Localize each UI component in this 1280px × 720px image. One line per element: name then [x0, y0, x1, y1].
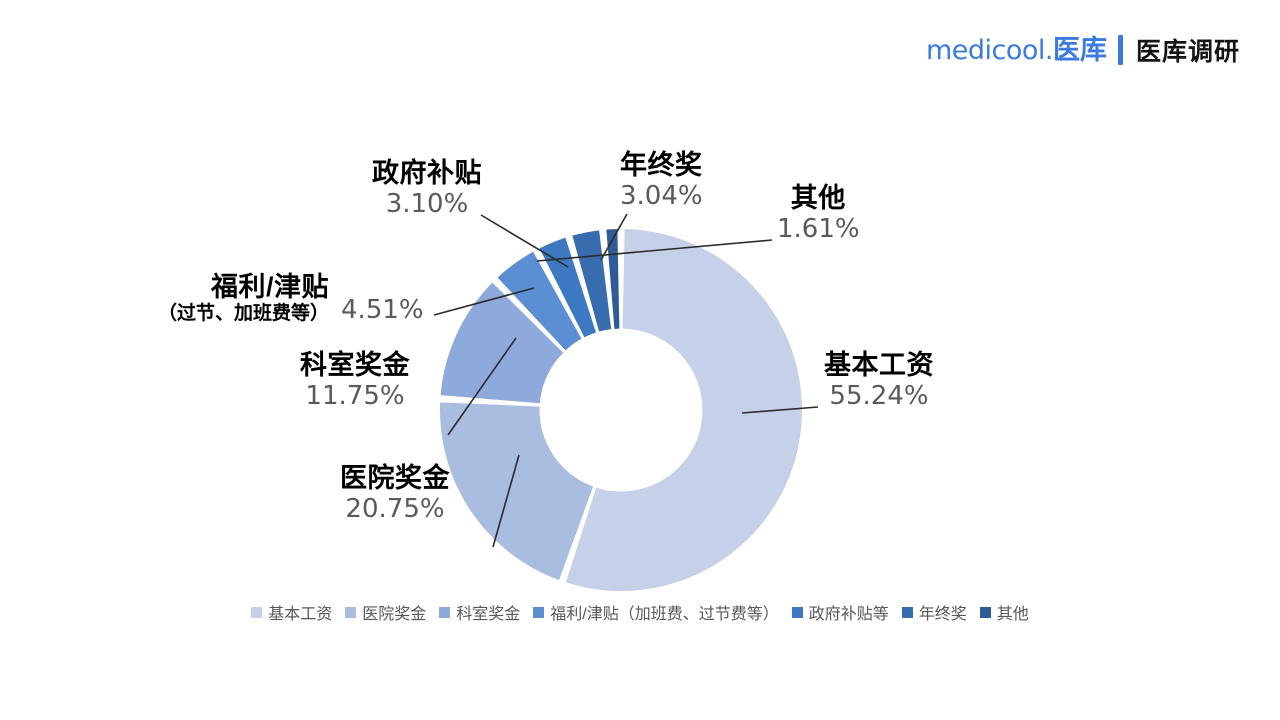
callout-other-value: 1.61%: [777, 214, 860, 245]
callout-hospital-value: 20.75%: [340, 494, 450, 525]
legend-item-label: 基本工资: [268, 600, 332, 624]
legend-swatch-icon: [251, 607, 262, 618]
legend-item[interactable]: 科室奖金: [439, 600, 520, 624]
brand-header: medicool.医库 医库调研: [926, 30, 1240, 70]
logo-chinese-text: 医库: [1053, 35, 1107, 66]
callout-basic-value: 55.24%: [824, 381, 934, 412]
callout-dept-name: 科室奖金: [300, 350, 410, 381]
legend-swatch-icon: [792, 607, 803, 618]
legend-item-label: 医院奖金: [362, 600, 426, 624]
legend-item-label: 科室奖金: [456, 600, 520, 624]
callout-hospital-name: 医院奖金: [340, 463, 450, 494]
callout-yearend-name: 年终奖: [620, 150, 703, 181]
logo-latin-text: medicool.: [926, 35, 1053, 66]
legend-swatch-icon: [980, 607, 991, 618]
legend-item[interactable]: 其他: [980, 600, 1029, 624]
callout-basic: 基本工资 55.24%: [824, 350, 934, 412]
callout-government-name: 政府补贴: [372, 158, 482, 189]
legend-item[interactable]: 福利/津贴（加班费、过节费等）: [533, 600, 778, 624]
callout-welfare: 福利/津贴 （过节、加班费等） 4.51%: [158, 272, 424, 326]
callout-government-value: 3.10%: [372, 189, 482, 220]
callout-welfare-value: 4.51%: [341, 295, 424, 326]
legend-item[interactable]: 年终奖: [902, 600, 967, 624]
callout-yearend: 年终奖 3.04%: [620, 150, 703, 212]
donut-slices: 基本工资 55.24%医院奖金 20.75%科室奖金 11.75%福利/津贴（加…: [440, 229, 802, 591]
legend-swatch-icon: [902, 607, 913, 618]
legend-item[interactable]: 政府补贴等: [792, 600, 889, 624]
callout-dept-value: 11.75%: [300, 381, 410, 412]
callout-government: 政府补贴 3.10%: [372, 158, 482, 220]
callout-dept: 科室奖金 11.75%: [300, 350, 410, 412]
brand-divider: [1118, 35, 1123, 65]
brand-subtitle: 医库调研: [1136, 32, 1240, 68]
callout-other: 其他 1.61%: [777, 183, 860, 245]
legend-item[interactable]: 基本工资: [251, 600, 332, 624]
legend-item-label: 其他: [997, 600, 1029, 624]
callout-welfare-subtitle: （过节、加班费等）: [158, 303, 329, 326]
donut-chart: 基本工资 55.24%医院奖金 20.75%科室奖金 11.75%福利/津贴（加…: [0, 100, 1280, 600]
callout-basic-name: 基本工资: [824, 350, 934, 381]
donut-slice[interactable]: 医院奖金 20.75%: [440, 402, 593, 580]
callout-welfare-name: 福利/津贴: [158, 272, 329, 303]
medicool-logo: medicool.医库: [926, 37, 1107, 64]
legend-swatch-icon: [533, 607, 544, 618]
legend-swatch-icon: [345, 607, 356, 618]
callout-hospital: 医院奖金 20.75%: [340, 463, 450, 525]
legend-item-label: 年终奖: [919, 600, 967, 624]
legend-item-label: 福利/津贴（加班费、过节费等）: [550, 600, 778, 624]
legend-item-label: 政府补贴等: [809, 600, 889, 624]
callout-yearend-value: 3.04%: [620, 181, 703, 212]
legend-item[interactable]: 医院奖金: [345, 600, 426, 624]
callout-other-name: 其他: [777, 183, 860, 214]
chart-legend: 基本工资医院奖金科室奖金福利/津贴（加班费、过节费等）政府补贴等年终奖其他: [0, 600, 1280, 624]
legend-swatch-icon: [439, 607, 450, 618]
